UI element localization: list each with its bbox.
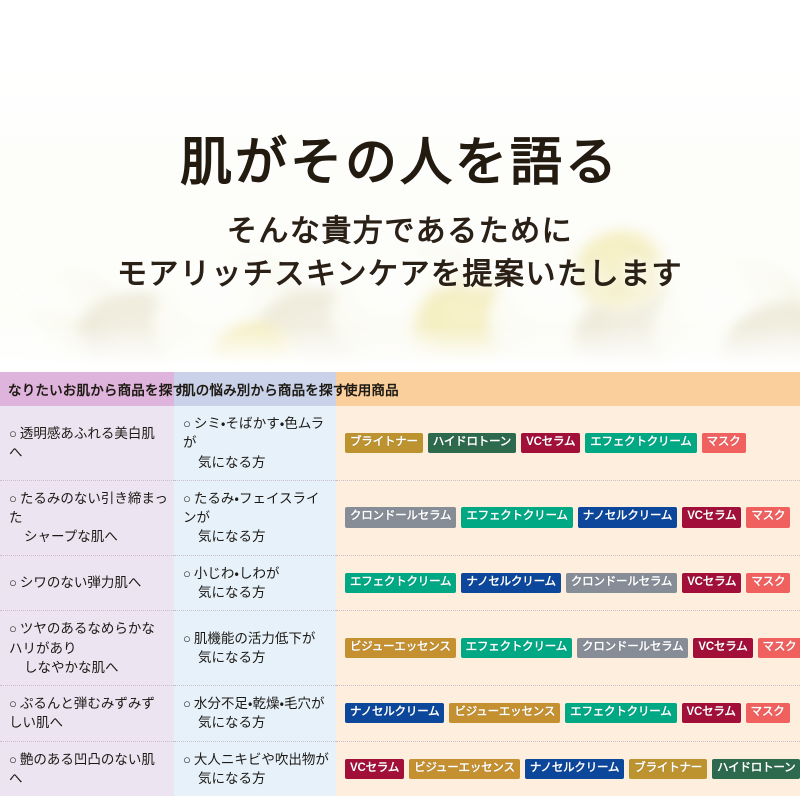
product-tag[interactable]: マスク xyxy=(758,638,800,659)
concern-text-line-1: 水分不足・乾燥・毛穴が xyxy=(194,696,325,711)
product-tag[interactable]: マスク xyxy=(702,433,746,454)
products-cell: VCセラムビジューエッセンスナノセルクリームブライトナーハイドロトーンマスク xyxy=(336,741,800,796)
product-tag[interactable]: VCセラム xyxy=(693,638,752,659)
product-tag[interactable]: ブライトナー xyxy=(629,759,707,780)
product-tag[interactable]: エフェクトクリーム xyxy=(461,638,572,659)
concern-cell[interactable]: ○水分不足・乾燥・毛穴が気になる方 xyxy=(174,685,336,741)
product-tag[interactable]: エフェクトクリーム xyxy=(345,573,456,594)
goal-cell[interactable]: ○艶のある凹凸のない肌へ xyxy=(0,741,174,796)
subtitle-line-1: そんな貴方であるために xyxy=(227,215,573,248)
product-tag[interactable]: ナノセルクリーム xyxy=(525,759,624,780)
circle-bullet-icon: ○ xyxy=(9,621,17,636)
table-row: ○シワのない弾力肌へ○小じわ・しわが気になる方エフェクトクリームナノセルクリーム… xyxy=(0,555,800,611)
column-header-concern: 肌の悩み別から商品を探す xyxy=(174,372,336,406)
circle-bullet-icon: ○ xyxy=(183,631,191,646)
product-tag[interactable]: VCセラム xyxy=(521,433,580,454)
goal-cell[interactable]: ○たるみのない引き締まったシャープな肌へ xyxy=(0,480,174,555)
product-tag[interactable]: クロンドールセラム xyxy=(577,638,688,659)
product-tag[interactable]: エフェクトクリーム xyxy=(585,433,696,454)
product-tag[interactable]: ナノセルクリーム xyxy=(345,703,444,724)
products-cell: ナノセルクリームビジューエッセンスエフェクトクリームVCセラムマスク xyxy=(336,685,800,741)
goal-text-line-1: たるみのない引き締まった xyxy=(9,491,168,525)
circle-bullet-icon: ○ xyxy=(9,696,17,711)
concern-text-line-1: シミ・そばかす・色ムラが xyxy=(183,416,324,450)
product-tag[interactable]: VCセラム xyxy=(682,573,741,594)
product-tag-list: ナノセルクリームビジューエッセンスエフェクトクリームVCセラムマスク xyxy=(345,703,794,724)
product-tag[interactable]: ナノセルクリーム xyxy=(578,507,677,528)
goal-text-line-1: ぷるんと弾むみずみずしい肌へ xyxy=(9,696,155,730)
circle-bullet-icon: ○ xyxy=(183,696,191,711)
table-row: ○ぷるんと弾むみずみずしい肌へ○水分不足・乾燥・毛穴が気になる方ナノセルクリーム… xyxy=(0,685,800,741)
product-tag-list: VCセラムビジューエッセンスナノセルクリームブライトナーハイドロトーンマスク xyxy=(345,759,794,780)
table-body: ○透明感あふれる美白肌へ○シミ・そばかす・色ムラが気になる方ブライトナーハイドロ… xyxy=(0,406,800,796)
circle-bullet-icon: ○ xyxy=(183,566,191,581)
subtitle-line-2: モアリッチスキンケアを提案いたします xyxy=(0,254,800,297)
product-tag[interactable]: ビジューエッセンス xyxy=(345,638,456,659)
goal-text-line-1: 透明感あふれる美白肌へ xyxy=(9,426,155,460)
concern-text-line-2: 気になる方 xyxy=(183,713,330,732)
product-tag[interactable]: VCセラム xyxy=(345,759,404,780)
product-tag[interactable]: ハイドロトーン xyxy=(428,433,516,454)
page-subtitle: そんな貴方であるために モアリッチスキンケアを提案いたします xyxy=(0,193,800,296)
goal-cell[interactable]: ○ぷるんと弾むみずみずしい肌へ xyxy=(0,685,174,741)
product-tag-list: ビジューエッセンスエフェクトクリームクロンドールセラムVCセラムマスク xyxy=(345,638,794,659)
product-tag[interactable]: ビジューエッセンス xyxy=(409,759,520,780)
product-tag[interactable]: VCセラム xyxy=(682,703,741,724)
column-header-goal: なりたいお肌から商品を探す xyxy=(0,372,174,406)
table-header: なりたいお肌から商品を探す 肌の悩み別から商品を探す 使用商品 xyxy=(0,372,800,406)
table-header-row: なりたいお肌から商品を探す 肌の悩み別から商品を探す 使用商品 xyxy=(0,372,800,406)
page-title: 肌がその人を語る xyxy=(0,0,800,193)
column-header-products: 使用商品 xyxy=(336,372,800,406)
concern-cell[interactable]: ○肌機能の活力低下が気になる方 xyxy=(174,611,336,686)
circle-bullet-icon: ○ xyxy=(183,752,191,767)
product-tag[interactable]: VCセラム xyxy=(682,507,741,528)
table-row: ○たるみのない引き締まったシャープな肌へ○たるみ・フェイスラインが気になる方クロ… xyxy=(0,480,800,555)
concern-text-line-2: 気になる方 xyxy=(183,769,330,788)
product-tag[interactable]: エフェクトクリーム xyxy=(461,507,572,528)
products-cell: クロンドールセラムエフェクトクリームナノセルクリームVCセラムマスク xyxy=(336,480,800,555)
table-row: ○ツヤのあるなめらかなハリがありしなやかな肌へ○肌機能の活力低下が気になる方ビジ… xyxy=(0,611,800,686)
product-tag[interactable]: マスク xyxy=(746,573,790,594)
concern-text-line-2: 気になる方 xyxy=(183,453,330,472)
product-tag[interactable]: クロンドールセラム xyxy=(345,507,456,528)
products-cell: ビジューエッセンスエフェクトクリームクロンドールセラムVCセラムマスク xyxy=(336,611,800,686)
concern-cell[interactable]: ○大人ニキビや吹出物が気になる方 xyxy=(174,741,336,796)
circle-bullet-icon: ○ xyxy=(183,416,191,431)
concern-text-line-1: 小じわ・しわが xyxy=(194,566,280,581)
product-tag[interactable]: マスク xyxy=(746,703,790,724)
goal-cell[interactable]: ○シワのない弾力肌へ xyxy=(0,555,174,611)
product-tag[interactable]: エフェクトクリーム xyxy=(565,703,676,724)
product-tag-list: クロンドールセラムエフェクトクリームナノセルクリームVCセラムマスク xyxy=(345,507,794,528)
goal-text-line-1: 艶のある凹凸のない肌へ xyxy=(9,752,155,786)
product-tag[interactable]: ビジューエッセンス xyxy=(449,703,560,724)
product-tag[interactable]: ブライトナー xyxy=(345,433,423,454)
circle-bullet-icon: ○ xyxy=(183,491,191,506)
table-row: ○艶のある凹凸のない肌へ○大人ニキビや吹出物が気になる方VCセラムビジューエッセ… xyxy=(0,741,800,796)
circle-bullet-icon: ○ xyxy=(9,752,17,767)
product-tag[interactable]: ナノセルクリーム xyxy=(461,573,560,594)
circle-bullet-icon: ○ xyxy=(9,426,17,441)
concern-text-line-2: 気になる方 xyxy=(183,527,330,546)
product-tag-list: エフェクトクリームナノセルクリームクロンドールセラムVCセラムマスク xyxy=(345,573,794,594)
table-row: ○透明感あふれる美白肌へ○シミ・そばかす・色ムラが気になる方ブライトナーハイドロ… xyxy=(0,406,800,480)
hero-bottom-fade xyxy=(0,326,800,372)
product-finder-table: なりたいお肌から商品を探す 肌の悩み別から商品を探す 使用商品 ○透明感あふれる… xyxy=(0,372,800,796)
concern-cell[interactable]: ○シミ・そばかす・色ムラが気になる方 xyxy=(174,406,336,480)
goal-cell[interactable]: ○透明感あふれる美白肌へ xyxy=(0,406,174,480)
concern-text-line-1: 肌機能の活力低下が xyxy=(194,631,316,646)
product-tag[interactable]: マスク xyxy=(746,507,790,528)
goal-cell[interactable]: ○ツヤのあるなめらかなハリがありしなやかな肌へ xyxy=(0,611,174,686)
goal-text-line-2: しなやかな肌へ xyxy=(9,658,168,677)
hero-banner: 肌がその人を語る そんな貴方であるために モアリッチスキンケアを提案いたします xyxy=(0,0,800,372)
product-tag-list: ブライトナーハイドロトーンVCセラムエフェクトクリームマスク xyxy=(345,433,794,454)
concern-text-line-1: 大人ニキビや吹出物が xyxy=(194,752,329,767)
concern-cell[interactable]: ○たるみ・フェイスラインが気になる方 xyxy=(174,480,336,555)
products-cell: エフェクトクリームナノセルクリームクロンドールセラムVCセラムマスク xyxy=(336,555,800,611)
goal-text-line-1: ツヤのあるなめらかなハリがあり xyxy=(9,621,155,655)
circle-bullet-icon: ○ xyxy=(9,491,17,506)
goal-text-line-1: シワのない弾力肌へ xyxy=(20,575,142,590)
concern-text-line-2: 気になる方 xyxy=(183,648,330,667)
goal-text-line-2: シャープな肌へ xyxy=(9,527,168,546)
product-tag[interactable]: ハイドロトーン xyxy=(712,759,800,780)
products-cell: ブライトナーハイドロトーンVCセラムエフェクトクリームマスク xyxy=(336,406,800,480)
concern-text-line-2: 気になる方 xyxy=(183,583,330,602)
concern-text-line-1: たるみ・フェイスラインが xyxy=(183,491,320,525)
concern-cell[interactable]: ○小じわ・しわが気になる方 xyxy=(174,555,336,611)
product-tag[interactable]: クロンドールセラム xyxy=(566,573,677,594)
circle-bullet-icon: ○ xyxy=(9,575,17,590)
